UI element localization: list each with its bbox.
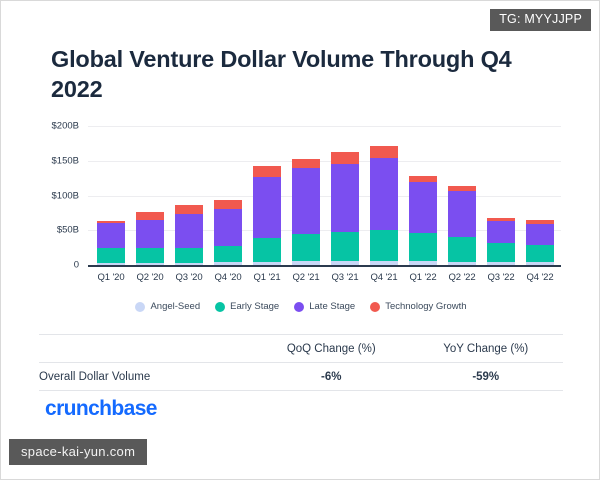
- table-cell-yoy: -59%: [409, 371, 564, 383]
- legend-item[interactable]: Angel-Seed: [135, 301, 200, 312]
- bar-segment: [370, 261, 398, 265]
- bar-segment: [136, 212, 164, 220]
- y-axis-label: $150B: [52, 155, 79, 166]
- bar-segment: [487, 221, 515, 243]
- bar-segment: [175, 248, 203, 263]
- bar-segment: [175, 263, 203, 265]
- x-axis-line: [88, 265, 561, 267]
- x-axis-label: Q2 '21: [284, 272, 328, 283]
- gridline: [88, 161, 561, 162]
- chart-bar[interactable]: [409, 176, 437, 265]
- bar-segment: [370, 158, 398, 230]
- bar-segment: [331, 164, 359, 232]
- x-axis-label: Q4 '20: [206, 272, 250, 283]
- bar-segment: [253, 166, 281, 176]
- bar-segment: [448, 191, 476, 238]
- chart-legend: Angel-SeedEarly StageLate StageTechnolog…: [1, 301, 600, 312]
- chart-card: TG: MYYJJPP Global Venture Dollar Volume…: [0, 0, 600, 480]
- bar-chart: $200B$150B$100B$50B0Q1 '20Q2 '20Q3 '20Q4…: [41, 119, 566, 271]
- bar-segment: [253, 177, 281, 238]
- bar-segment: [448, 237, 476, 261]
- legend-label: Late Stage: [309, 301, 355, 312]
- table-cell-qoq: -6%: [254, 371, 409, 383]
- bar-segment: [331, 232, 359, 260]
- bar-segment: [97, 263, 125, 265]
- x-axis-label: Q3 '21: [323, 272, 367, 283]
- gridline: [88, 126, 561, 127]
- watermark: space-kai-yun.com: [9, 439, 147, 465]
- bar-segment: [253, 262, 281, 265]
- chart-bar[interactable]: [253, 166, 281, 265]
- table-header-yoy: YoY Change (%): [409, 343, 564, 355]
- y-axis-label: $50B: [57, 225, 79, 236]
- x-axis-label: Q3 '20: [167, 272, 211, 283]
- summary-table: QoQ Change (%) YoY Change (%) Overall Do…: [39, 334, 563, 391]
- x-axis-label: Q4 '21: [362, 272, 406, 283]
- x-axis-label: Q4 '22: [518, 272, 562, 283]
- bar-segment: [292, 261, 320, 265]
- table-row-label: Overall Dollar Volume: [39, 371, 254, 383]
- x-axis-label: Q3 '22: [479, 272, 523, 283]
- bar-segment: [214, 209, 242, 245]
- legend-dot-icon: [135, 302, 145, 312]
- legend-item[interactable]: Late Stage: [294, 301, 355, 312]
- bar-segment: [409, 233, 437, 261]
- chart-plot-area: [88, 126, 561, 265]
- x-axis-label: Q1 '21: [245, 272, 289, 283]
- chart-bar[interactable]: [136, 212, 164, 265]
- bar-segment: [409, 182, 437, 233]
- chart-bar[interactable]: [526, 220, 554, 265]
- chart-bar[interactable]: [331, 152, 359, 265]
- bar-segment: [292, 234, 320, 261]
- table-divider-bottom: [39, 390, 563, 391]
- bar-segment: [526, 262, 554, 265]
- legend-item[interactable]: Early Stage: [215, 301, 279, 312]
- bar-segment: [526, 245, 554, 262]
- chart-bar[interactable]: [448, 186, 476, 265]
- chart-bar[interactable]: [370, 146, 398, 266]
- chart-bar[interactable]: [214, 200, 242, 265]
- legend-dot-icon: [294, 302, 304, 312]
- legend-dot-icon: [370, 302, 380, 312]
- bar-segment: [370, 146, 398, 159]
- legend-dot-icon: [215, 302, 225, 312]
- chart-bar[interactable]: [487, 218, 515, 265]
- bar-segment: [136, 220, 164, 248]
- bar-segment: [292, 168, 320, 233]
- crunchbase-logo: crunchbase: [45, 397, 157, 421]
- bar-segment: [331, 261, 359, 265]
- bar-segment: [370, 230, 398, 261]
- gridline: [88, 196, 561, 197]
- legend-item[interactable]: Technology Growth: [370, 301, 466, 312]
- x-axis-label: Q2 '20: [128, 272, 172, 283]
- table-header-qoq: QoQ Change (%): [254, 343, 409, 355]
- y-axis-label: 0: [74, 260, 79, 271]
- chart-bar[interactable]: [97, 221, 125, 265]
- bar-segment: [331, 152, 359, 164]
- legend-label: Angel-Seed: [150, 301, 200, 312]
- legend-label: Early Stage: [230, 301, 279, 312]
- bar-segment: [97, 223, 125, 248]
- bar-segment: [409, 261, 437, 265]
- bar-segment: [175, 214, 203, 247]
- legend-label: Technology Growth: [385, 301, 466, 312]
- chart-bar[interactable]: [292, 159, 320, 265]
- bar-segment: [136, 263, 164, 265]
- table-header-row: QoQ Change (%) YoY Change (%): [39, 335, 563, 362]
- page-title: Global Venture Dollar Volume Through Q4 …: [51, 45, 556, 104]
- bar-segment: [526, 224, 554, 245]
- x-axis-label: Q2 '22: [440, 272, 484, 283]
- bar-segment: [487, 243, 515, 261]
- x-axis-label: Q1 '20: [89, 272, 133, 283]
- bar-segment: [214, 262, 242, 265]
- bar-segment: [175, 205, 203, 215]
- bar-segment: [487, 262, 515, 265]
- bar-segment: [97, 248, 125, 263]
- x-axis-label: Q1 '22: [401, 272, 445, 283]
- y-axis-label: $200B: [52, 121, 79, 132]
- bar-segment: [253, 238, 281, 262]
- bar-segment: [214, 246, 242, 263]
- bar-segment: [136, 248, 164, 263]
- bar-segment: [292, 159, 320, 168]
- tg-badge: TG: MYYJJPP: [490, 9, 591, 31]
- chart-bar[interactable]: [175, 205, 203, 265]
- y-axis-label: $100B: [52, 190, 79, 201]
- bar-segment: [448, 262, 476, 265]
- bar-segment: [214, 200, 242, 209]
- table-row: Overall Dollar Volume -6% -59%: [39, 363, 563, 390]
